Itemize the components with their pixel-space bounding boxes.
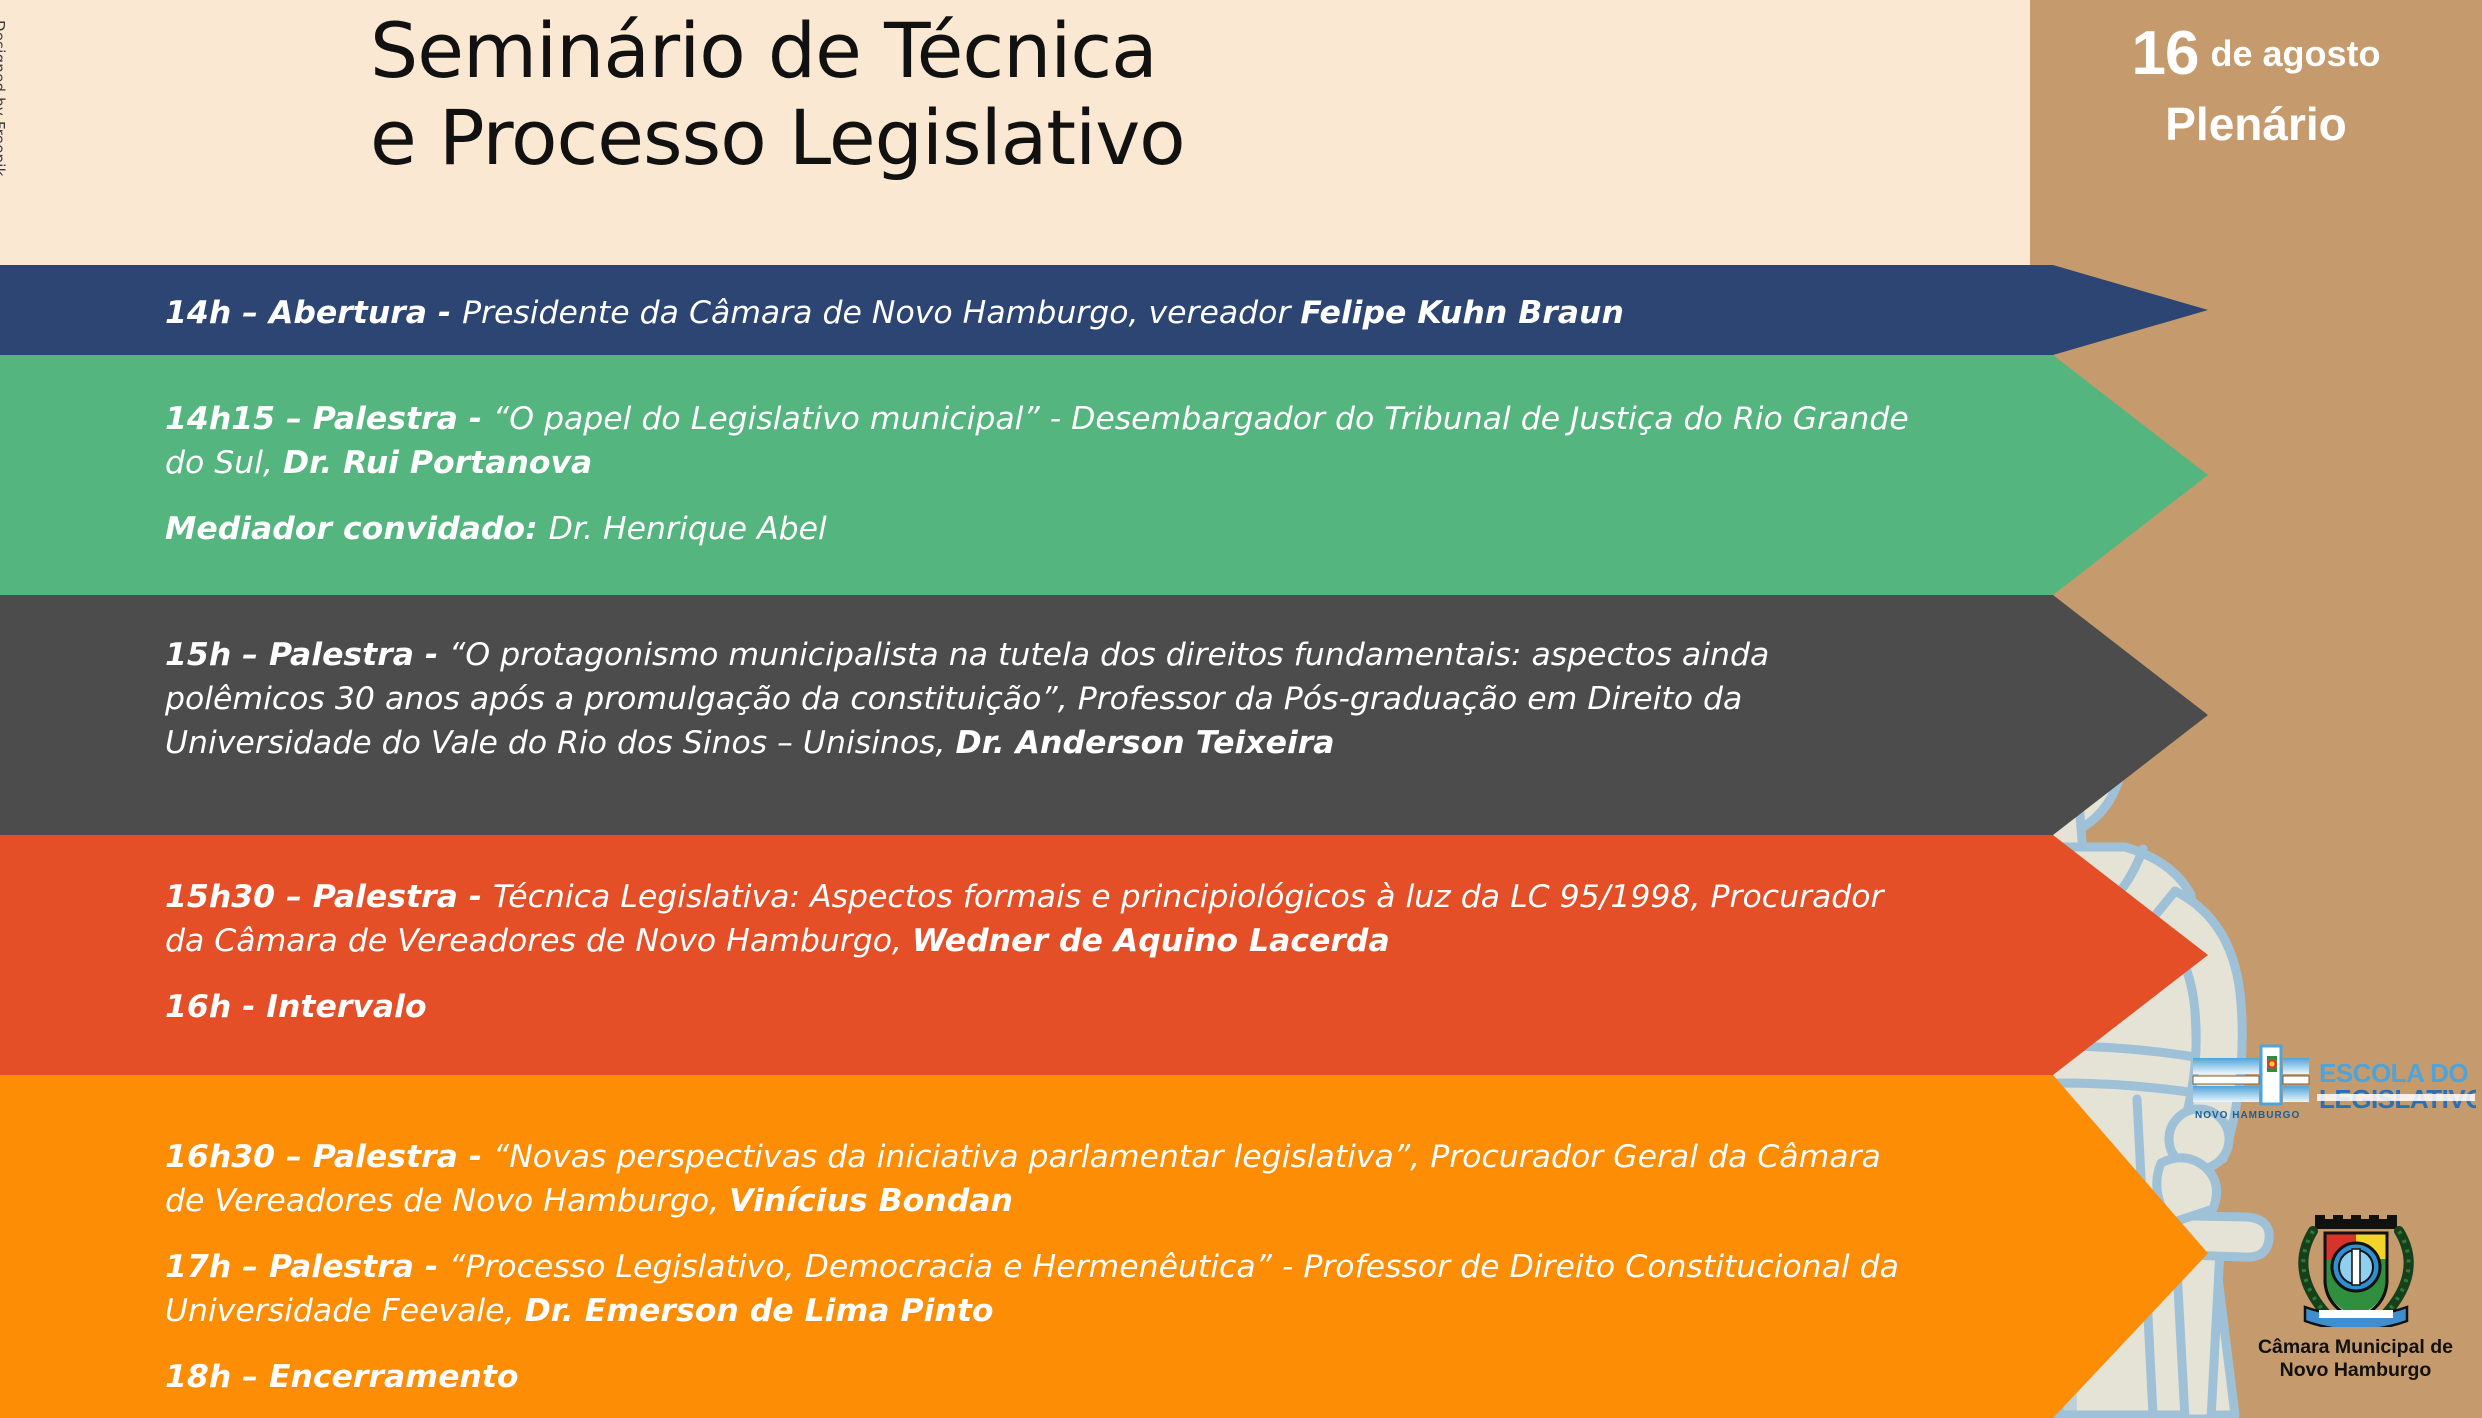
escola-do-legislativo-logo: NOVO HAMBURGO ESCOLA DO LEGISLATIVO [2191,1038,2476,1133]
camara-logo-line2: Novo Hamburgo [2253,1359,2458,1382]
schedule-band-1415: 14h15 – Palestra - “O papel do Legislati… [0,355,2208,595]
schedule-item: 15h – Palestra - “O protagonismo municip… [165,633,1915,765]
schedule-item: 14h – Abertura - Presidente da Câmara de… [165,291,1915,335]
event-month: de agosto [2210,33,2380,74]
schedule-band-abertura: 14h – Abertura - Presidente da Câmara de… [0,265,2208,355]
schedule-item: Mediador convidado: Dr. Henrique Abel [165,507,1915,551]
page-title: Seminário de Técnica e Processo Legislat… [370,8,1990,181]
band-text-abertura: 14h – Abertura - Presidente da Câmara de… [165,291,1915,335]
page-title-line1: Seminário de Técnica [370,6,1157,95]
event-day: 16 [2132,19,2199,88]
event-poster: Designed by Freepik Seminário de Técnica… [0,0,2482,1418]
schedule-band-15h: 15h – Palestra - “O protagonismo municip… [0,595,2208,835]
camara-logo-line1: Câmara Municipal de [2253,1336,2458,1359]
schedule-item: 16h30 – Palestra - “Novas perspectivas d… [165,1135,1915,1223]
freepik-credit: Designed by Freepik [0,20,8,220]
schedule-speaker: Wedner de Aquino Lacerda [912,923,1390,959]
event-date-block: 16de agosto Plenário [2030,18,2482,151]
event-date-line: 16de agosto [2030,18,2482,89]
band-text-1530: 15h30 – Palestra - Técnica Legislativa: … [165,875,1915,1029]
schedule-item: 17h – Palestra - “Processo Legislativo, … [165,1245,1915,1333]
schedule-time-label: 14h – Abertura - [165,295,462,331]
schedule-time-label: 16h30 – Palestra - [165,1139,493,1175]
schedule-speaker: Felipe Kuhn Braun [1300,295,1624,331]
schedule-speaker: Vinícius Bondan [729,1183,1013,1219]
schedule-break-label: 16h - Intervalo [165,989,427,1025]
schedule-speaker: Dr. Emerson de Lima Pinto [525,1293,994,1329]
schedule-item: 16h - Intervalo [165,985,1915,1029]
band-text-1415: 14h15 – Palestra - “O papel do Legislati… [165,397,1915,551]
band-text-15h: 15h – Palestra - “O protagonismo municip… [165,633,1915,765]
escola-logo-city: NOVO HAMBURGO [2195,1110,2300,1121]
schedule-item: 15h30 – Palestra - Técnica Legislativa: … [165,875,1915,963]
schedule-closing-label: 18h – Encerramento [165,1359,519,1395]
schedule-band-1630: 16h30 – Palestra - “Novas perspectivas d… [0,1075,2208,1418]
coat-of-arms-icon [2253,1215,2458,1327]
schedule-time-label: 14h15 – Palestra - [165,401,493,437]
schedule-time-label: 15h – Palestra - [165,637,449,673]
band-text-1630: 16h30 – Palestra - “Novas perspectivas d… [165,1135,1915,1399]
schedule-speaker: Dr. Anderson Teixeira [956,725,1335,761]
schedule-item: 14h15 – Palestra - “O papel do Legislati… [165,397,1915,485]
schedule-time-label: 17h – Palestra - [165,1249,449,1285]
page-title-line2: e Processo Legislativo [370,95,1990,182]
schedule-time-label: 15h30 – Palestra - [165,879,493,915]
schedule-band-1530: 15h30 – Palestra - Técnica Legislativa: … [0,835,2208,1075]
event-venue: Plenário [2030,97,2482,151]
schedule-speaker: Dr. Rui Portanova [283,445,592,481]
camara-logo-caption: Câmara Municipal de Novo Hamburgo [2253,1336,2458,1382]
schedule-role-label: Mediador convidado: [165,511,549,547]
schedule-item: 18h – Encerramento [165,1355,1915,1399]
schedule-body: Presidente da Câmara de Novo Hamburgo, v… [462,295,1300,331]
camara-municipal-logo: Câmara Municipal de Novo Hamburgo [2253,1215,2458,1375]
schedule-body: Dr. Henrique Abel [549,511,827,547]
